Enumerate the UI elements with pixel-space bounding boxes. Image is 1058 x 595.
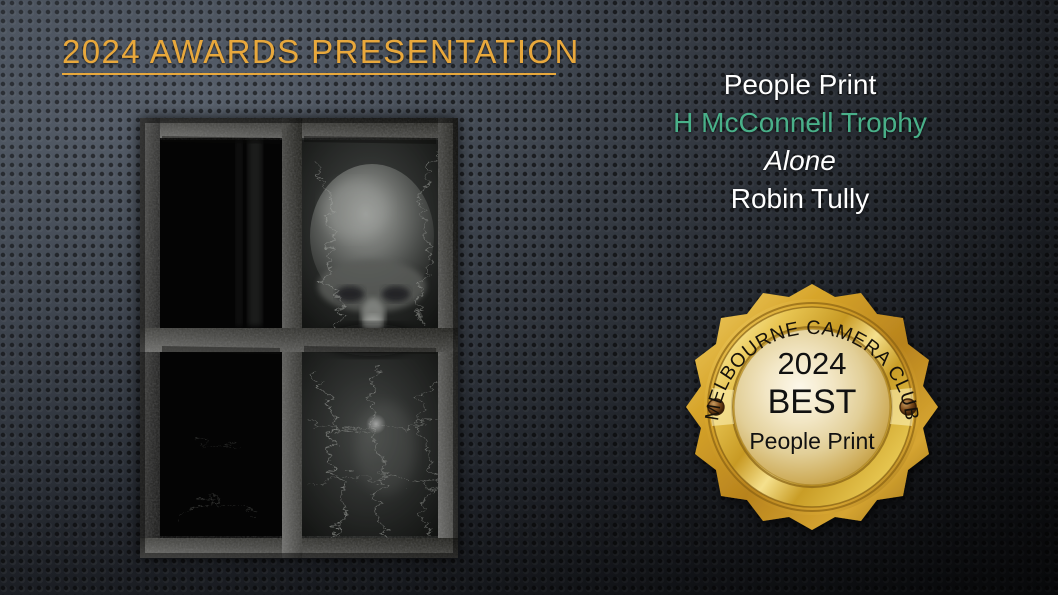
award-category: People Print	[620, 66, 980, 104]
awards-presentation-slide: 2024 AWARDS PRESENTATION	[0, 0, 1058, 595]
title-underline	[62, 73, 556, 75]
photograph-artwork	[140, 118, 458, 558]
artwork-title: Alone	[620, 142, 980, 180]
award-badge: MELBOURNE CAMERA CLUB 2024 BEST People P…	[672, 280, 952, 544]
slide-title-block: 2024 AWARDS PRESENTATION	[62, 33, 582, 75]
badge-category: People Print	[672, 428, 952, 455]
photographer-name: Robin Tully	[620, 180, 980, 218]
badge-year: 2024	[672, 346, 952, 382]
award-details: People Print H McConnell Trophy Alone Ro…	[620, 66, 980, 218]
badge-rank: BEST	[672, 383, 952, 422]
page-title: 2024 AWARDS PRESENTATION	[62, 33, 582, 71]
award-photograph	[140, 118, 458, 558]
award-trophy-name: H McConnell Trophy	[620, 104, 980, 142]
